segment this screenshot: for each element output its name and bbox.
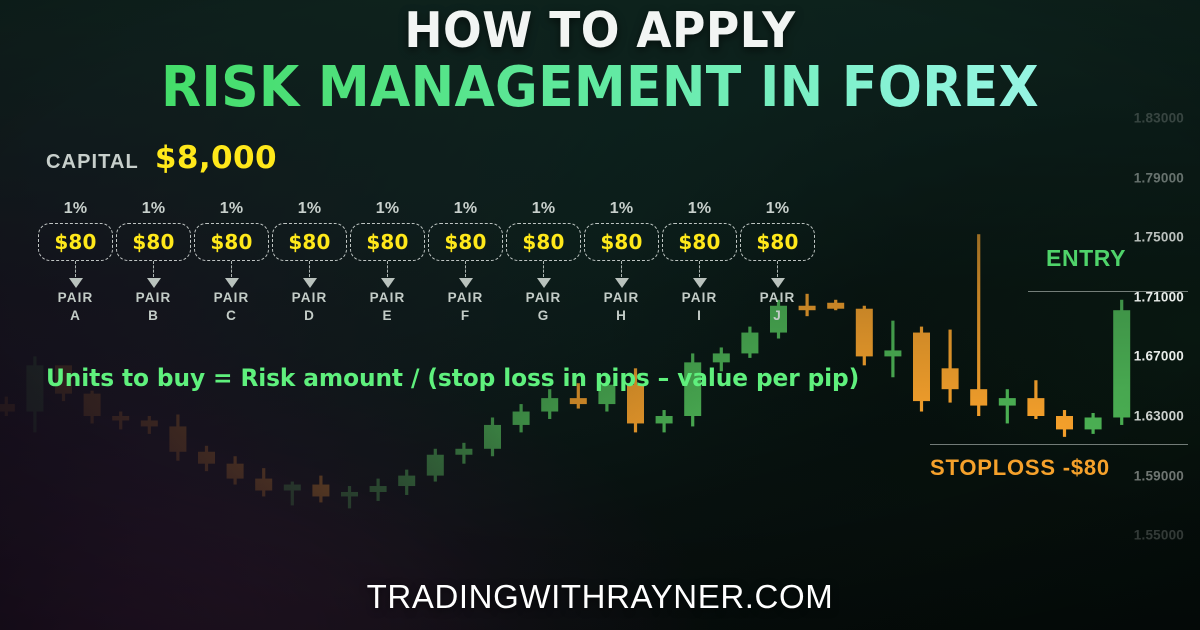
connector-dashed-line	[309, 261, 310, 277]
risk-amount-value: $80	[756, 230, 798, 254]
site-watermark: TRADINGWITHRAYNER.COM	[0, 578, 1200, 616]
risk-percent-label: 1%	[610, 200, 634, 218]
risk-amount-value: $80	[678, 230, 720, 254]
infographic-canvas: 1.830001.790001.750001.710001.670001.630…	[0, 0, 1200, 630]
pair-label: PAIR	[136, 289, 172, 307]
risk-percent-label: 1%	[220, 200, 244, 218]
allocation-column: 1%$80PAIRH	[584, 200, 659, 325]
price-axis-tick: 1.67000	[1134, 349, 1184, 364]
risk-allocation-row: 1%$80PAIRA1%$80PAIRB1%$80PAIRC1%$80PAIRD…	[38, 200, 815, 325]
entry-label: ENTRY	[1046, 245, 1126, 272]
allocation-connector	[771, 261, 785, 289]
risk-amount-value: $80	[210, 230, 252, 254]
pair-label: PAIR	[58, 289, 94, 307]
stoploss-label: STOPLOSS -$80	[930, 455, 1110, 481]
connector-dashed-line	[231, 261, 232, 277]
pair-id: D	[304, 307, 315, 325]
allocation-column: 1%$80PAIRF	[428, 200, 503, 325]
stoploss-level-line	[930, 444, 1188, 445]
allocation-connector	[381, 261, 395, 289]
connector-dashed-line	[621, 261, 622, 277]
connector-dashed-line	[153, 261, 154, 277]
connector-dashed-line	[465, 261, 466, 277]
pair-label: PAIR	[760, 289, 796, 307]
risk-amount-box: $80	[194, 223, 269, 261]
pair-id: G	[538, 307, 550, 325]
allocation-connector	[537, 261, 551, 289]
pair-id: E	[382, 307, 392, 325]
allocation-column: 1%$80PAIRE	[350, 200, 425, 325]
arrow-down-icon	[303, 278, 317, 288]
pair-id: J	[773, 307, 782, 325]
pair-label: PAIR	[370, 289, 406, 307]
allocation-connector	[693, 261, 707, 289]
connector-dashed-line	[699, 261, 700, 277]
allocation-column: 1%$80PAIRG	[506, 200, 581, 325]
capital-value: $8,000	[155, 140, 277, 176]
risk-amount-value: $80	[288, 230, 330, 254]
pair-label: PAIR	[448, 289, 484, 307]
connector-dashed-line	[777, 261, 778, 277]
position-sizing-formula: Units to buy = Risk amount / (stop loss …	[46, 364, 859, 392]
pair-label: PAIR	[682, 289, 718, 307]
risk-amount-box: $80	[506, 223, 581, 261]
connector-dashed-line	[543, 261, 544, 277]
pair-id: H	[616, 307, 627, 325]
allocation-connector	[615, 261, 629, 289]
allocation-column: 1%$80PAIRB	[116, 200, 191, 325]
allocation-connector	[459, 261, 473, 289]
arrow-down-icon	[225, 278, 239, 288]
risk-percent-label: 1%	[532, 200, 556, 218]
headline: HOW TO APPLY RISK MANAGEMENT IN FOREX	[0, 6, 1200, 117]
risk-amount-value: $80	[54, 230, 96, 254]
price-axis-tick: 1.55000	[1134, 528, 1184, 543]
risk-amount-box: $80	[116, 223, 191, 261]
price-axis-tick: 1.63000	[1134, 409, 1184, 424]
allocation-connector	[225, 261, 239, 289]
pair-label: PAIR	[526, 289, 562, 307]
allocation-column: 1%$80PAIRA	[38, 200, 113, 325]
allocation-connector	[147, 261, 161, 289]
pair-id: A	[70, 307, 81, 325]
risk-amount-value: $80	[132, 230, 174, 254]
pair-label: PAIR	[292, 289, 328, 307]
price-axis-tick: 1.59000	[1134, 468, 1184, 483]
pair-id: C	[226, 307, 237, 325]
pair-label: PAIR	[604, 289, 640, 307]
risk-percent-label: 1%	[766, 200, 790, 218]
risk-amount-box: $80	[272, 223, 347, 261]
arrow-down-icon	[771, 278, 785, 288]
capital-label: CAPITAL	[46, 151, 139, 174]
risk-amount-value: $80	[366, 230, 408, 254]
risk-percent-label: 1%	[454, 200, 478, 218]
risk-percent-label: 1%	[298, 200, 322, 218]
risk-amount-value: $80	[444, 230, 486, 254]
risk-percent-label: 1%	[688, 200, 712, 218]
capital-block: CAPITAL $8,000	[46, 140, 277, 176]
price-axis-tick: 1.79000	[1134, 170, 1184, 185]
arrow-down-icon	[693, 278, 707, 288]
allocation-column: 1%$80PAIRI	[662, 200, 737, 325]
entry-level-line	[1028, 291, 1188, 292]
arrow-down-icon	[147, 278, 161, 288]
arrow-down-icon	[615, 278, 629, 288]
risk-amount-box: $80	[38, 223, 113, 261]
risk-amount-box: $80	[662, 223, 737, 261]
allocation-connector	[69, 261, 83, 289]
arrow-down-icon	[69, 278, 83, 288]
pair-id: B	[148, 307, 159, 325]
connector-dashed-line	[387, 261, 388, 277]
pair-id: I	[697, 307, 702, 325]
headline-line-1: HOW TO APPLY	[42, 6, 1158, 57]
risk-percent-label: 1%	[64, 200, 88, 218]
risk-amount-value: $80	[600, 230, 642, 254]
risk-percent-label: 1%	[142, 200, 166, 218]
allocation-column: 1%$80PAIRD	[272, 200, 347, 325]
risk-amount-box: $80	[740, 223, 815, 261]
arrow-down-icon	[459, 278, 473, 288]
risk-amount-box: $80	[428, 223, 503, 261]
pair-id: F	[461, 307, 470, 325]
price-axis-tick: 1.75000	[1134, 230, 1184, 245]
allocation-column: 1%$80PAIRC	[194, 200, 269, 325]
headline-line-2: RISK MANAGEMENT IN FOREX	[42, 59, 1158, 117]
risk-amount-value: $80	[522, 230, 564, 254]
risk-amount-box: $80	[350, 223, 425, 261]
allocation-column: 1%$80PAIRJ	[740, 200, 815, 325]
pair-label: PAIR	[214, 289, 250, 307]
risk-amount-box: $80	[584, 223, 659, 261]
connector-dashed-line	[75, 261, 76, 277]
allocation-connector	[303, 261, 317, 289]
arrow-down-icon	[381, 278, 395, 288]
risk-percent-label: 1%	[376, 200, 400, 218]
arrow-down-icon	[537, 278, 551, 288]
